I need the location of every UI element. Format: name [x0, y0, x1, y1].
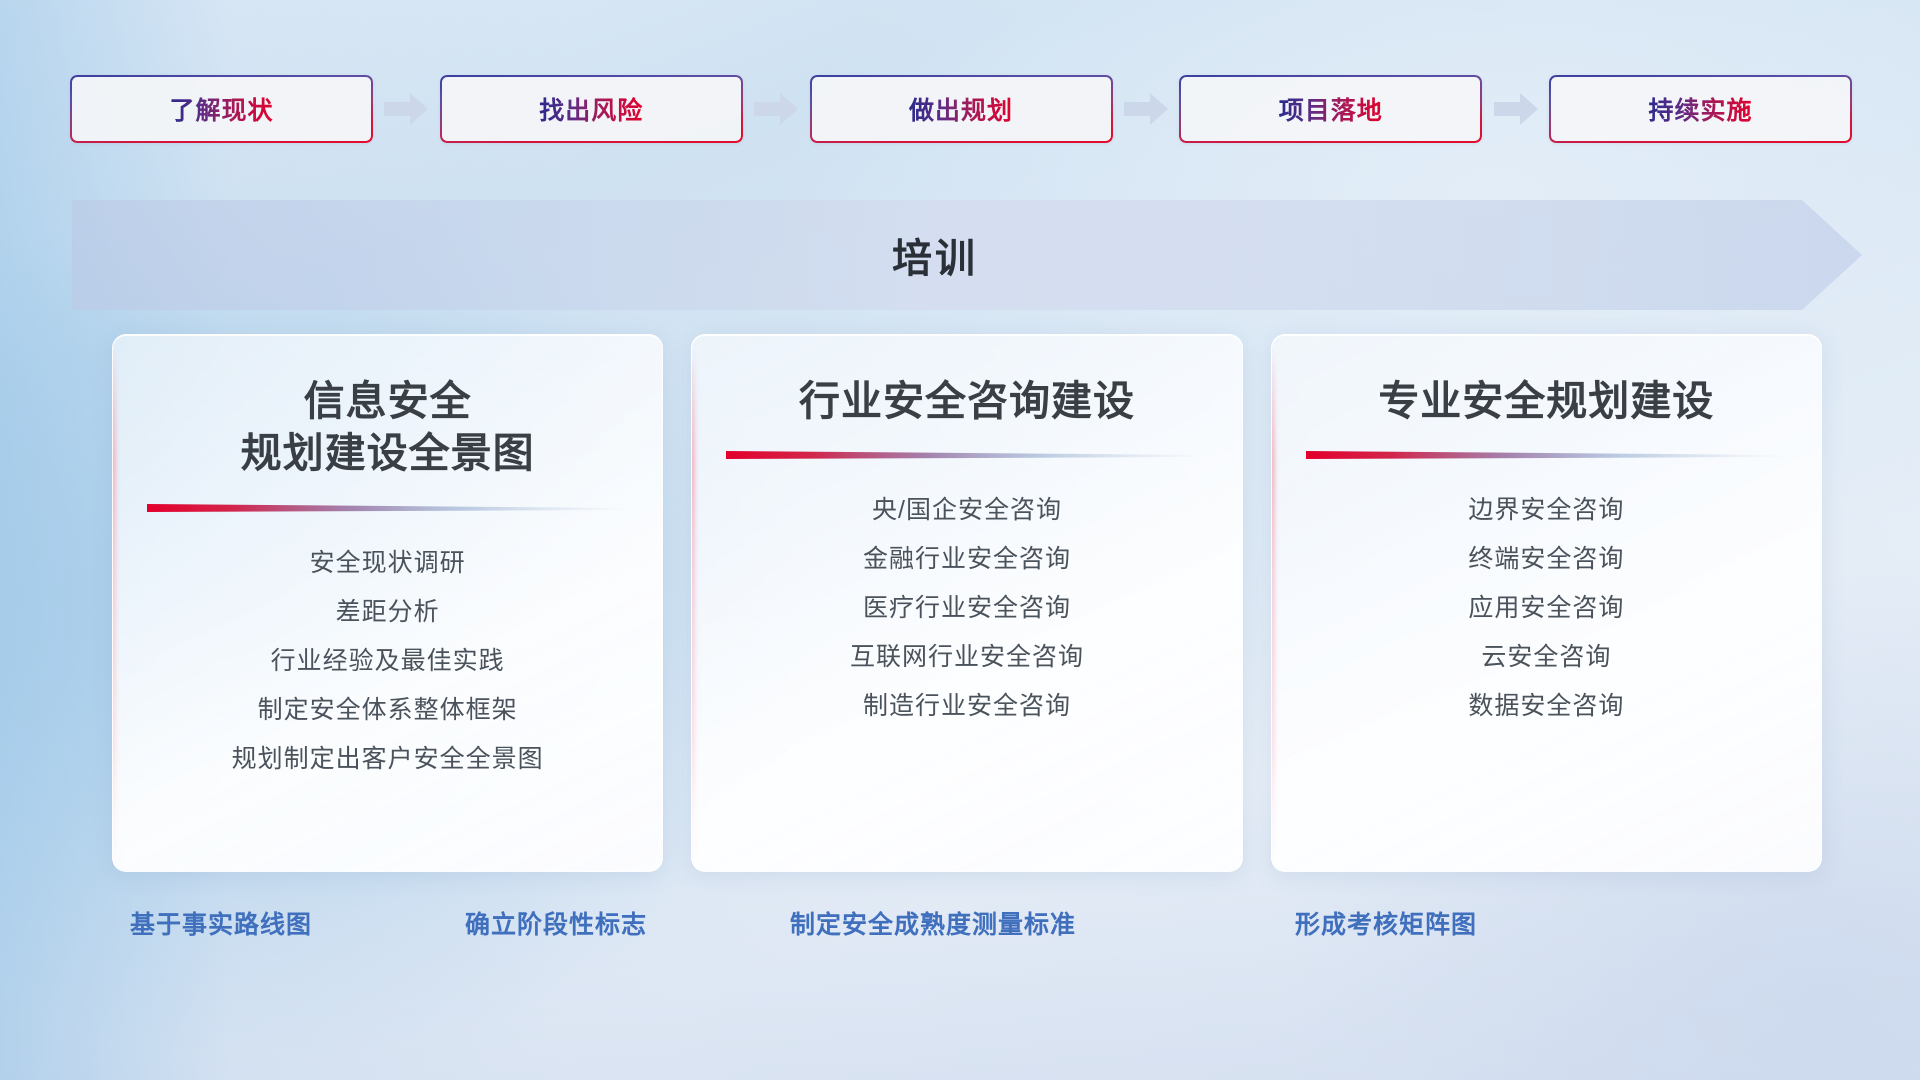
step-label: 做出规划: [909, 91, 1013, 127]
step-box-5[interactable]: 持续实施: [1549, 75, 1852, 143]
list-item: 规划制定出客户安全全景图: [147, 735, 628, 784]
list-item: 互联网行业安全咨询: [726, 633, 1207, 682]
card-wrapper-3: 专业安全规划建设: [1271, 334, 1822, 872]
caption-2: 确立阶段性标志: [465, 905, 647, 941]
list-item: 终端安全咨询: [1306, 535, 1787, 584]
caption-4: 形成考核矩阵图: [1295, 905, 1477, 941]
list-item: 行业经验及最佳实践: [147, 637, 628, 686]
slide-canvas: 了解现状 找出风险 做出规划 项目落地: [0, 0, 1920, 1080]
card-divider: [1306, 449, 1787, 460]
gradient-rule-icon: [726, 449, 1207, 460]
card-item-list: 央/国企安全咨询 金融行业安全咨询 医疗行业安全咨询 互联网行业安全咨询 制造行…: [726, 486, 1207, 731]
step-label: 项目落地: [1279, 91, 1383, 127]
list-item: 数据安全咨询: [1306, 682, 1787, 731]
card-item-list: 边界安全咨询 终端安全咨询 应用安全咨询 云安全咨询 数据安全咨询: [1306, 486, 1787, 731]
gradient-rule-icon: [147, 502, 628, 513]
banner-title: 培训: [0, 200, 1870, 310]
list-item: 应用安全咨询: [1306, 584, 1787, 633]
card-divider: [147, 502, 628, 513]
card-group: 信息安全 规划建设全景图: [112, 334, 1822, 872]
card-item-list: 安全现状调研 差距分析 行业经验及最佳实践 制定安全体系整体框架 规划制定出客户…: [147, 539, 628, 784]
step-box-3[interactable]: 做出规划: [810, 75, 1113, 143]
list-item: 云安全咨询: [1306, 633, 1787, 682]
step-arrow-2: [743, 93, 810, 125]
list-item: 差距分析: [147, 588, 628, 637]
step-arrow-3: [1113, 93, 1180, 125]
list-item: 边界安全咨询: [1306, 486, 1787, 535]
card-wrapper-1: 信息安全 规划建设全景图: [112, 334, 663, 872]
list-item: 金融行业安全咨询: [726, 535, 1207, 584]
card-divider: [726, 449, 1207, 460]
arrow-right-icon: [1494, 93, 1538, 125]
arrow-right-icon: [754, 93, 798, 125]
step-box-4[interactable]: 项目落地: [1179, 75, 1482, 143]
step-label: 持续实施: [1648, 91, 1752, 127]
arrow-right-icon: [384, 93, 428, 125]
card-title: 行业安全咨询建设: [799, 375, 1135, 427]
caption-row: 基于事实路线图 确立阶段性标志 制定安全成熟度测量标准 形成考核矩阵图: [0, 905, 1920, 965]
list-item: 制定安全体系整体框架: [147, 686, 628, 735]
gradient-rule-icon: [1306, 449, 1787, 460]
arrow-right-icon: [1124, 93, 1168, 125]
card-title: 专业安全规划建设: [1378, 375, 1714, 427]
card-1[interactable]: 信息安全 规划建设全景图: [112, 334, 663, 872]
step-label: 找出风险: [539, 91, 643, 127]
list-item: 安全现状调研: [147, 539, 628, 588]
process-step-flow: 了解现状 找出风险 做出规划 项目落地: [70, 75, 1852, 143]
step-box-2[interactable]: 找出风险: [440, 75, 743, 143]
list-item: 制造行业安全咨询: [726, 682, 1207, 731]
step-arrow-4: [1482, 93, 1549, 125]
list-item: 央/国企安全咨询: [726, 486, 1207, 535]
card-wrapper-2: 行业安全咨询建设: [691, 334, 1242, 872]
caption-1: 基于事实路线图: [130, 905, 312, 941]
caption-3: 制定安全成熟度测量标准: [790, 905, 1076, 941]
step-box-1[interactable]: 了解现状: [70, 75, 373, 143]
card-3[interactable]: 专业安全规划建设: [1271, 334, 1822, 872]
list-item: 医疗行业安全咨询: [726, 584, 1207, 633]
card-2[interactable]: 行业安全咨询建设: [691, 334, 1242, 872]
step-label: 了解现状: [169, 91, 273, 127]
step-arrow-1: [373, 93, 440, 125]
card-title: 信息安全 规划建设全景图: [241, 375, 535, 480]
training-banner: 培训: [0, 200, 1920, 310]
